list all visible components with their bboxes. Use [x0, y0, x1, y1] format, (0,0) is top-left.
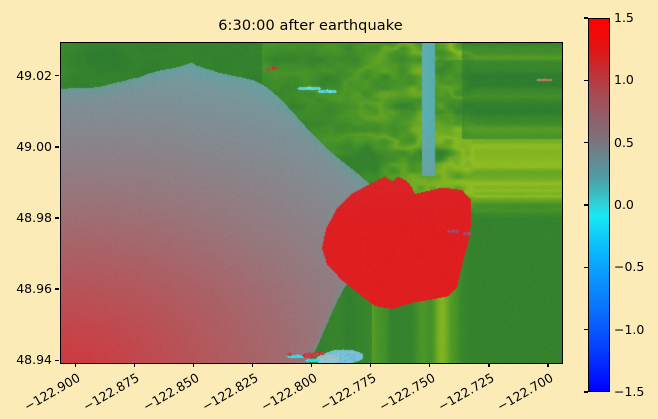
colorbar-tick-label: −1.0 [614, 322, 644, 337]
map-axes[interactable] [60, 42, 563, 364]
y-tick [55, 360, 59, 361]
y-tick [55, 288, 59, 289]
y-tick-label: 48.96 [0, 281, 52, 296]
colorbar-gradient [588, 18, 610, 392]
colorbar-tick [584, 267, 589, 268]
y-tick [55, 146, 59, 147]
colorbar-tick [584, 17, 589, 18]
y-tick-label: 49.00 [0, 139, 52, 154]
x-tick-label: −122.750 [376, 370, 437, 414]
y-tick-label: 49.02 [0, 68, 52, 83]
x-tick [252, 363, 253, 367]
colorbar-tick-label: −0.5 [614, 259, 644, 274]
colorbar-tick [584, 80, 589, 81]
x-tick [370, 363, 371, 367]
x-tick-label: −122.725 [435, 370, 496, 414]
y-tick [55, 75, 59, 76]
x-tick [311, 363, 312, 367]
page-title: 6:30:00 after earthquake [60, 18, 561, 34]
colorbar-tick-label: 1.5 [614, 10, 634, 25]
y-tick-label: 48.98 [0, 210, 52, 225]
x-tick [193, 363, 194, 367]
colorbar-tick [584, 329, 589, 330]
x-tick-label: −122.800 [258, 370, 319, 414]
colorbar-tick [584, 204, 589, 205]
colorbar-tick-label: 0.5 [614, 135, 634, 150]
x-tick-label: −122.900 [22, 370, 83, 414]
x-tick-label: −122.850 [140, 370, 201, 414]
x-tick [488, 363, 489, 367]
y-tick [55, 217, 59, 218]
x-tick-label: −122.875 [81, 370, 142, 414]
figure-canvas: 6:30:00 after earthquake −122.900−122.87… [0, 0, 658, 419]
y-tick-label: 48.94 [0, 352, 52, 367]
colorbar[interactable] [588, 18, 610, 392]
x-tick-label: −122.775 [317, 370, 378, 414]
x-tick-label: −122.700 [494, 370, 555, 414]
tsunami-heatmap [61, 43, 562, 363]
x-tick [75, 363, 76, 367]
x-tick [134, 363, 135, 367]
colorbar-tick-label: 0.0 [614, 197, 634, 212]
x-tick [429, 363, 430, 367]
colorbar-tick [584, 391, 589, 392]
colorbar-tick [584, 142, 589, 143]
x-tick [547, 363, 548, 367]
x-tick-label: −122.825 [199, 370, 260, 414]
colorbar-tick-label: 1.0 [614, 72, 634, 87]
colorbar-tick-label: −1.5 [614, 384, 644, 399]
